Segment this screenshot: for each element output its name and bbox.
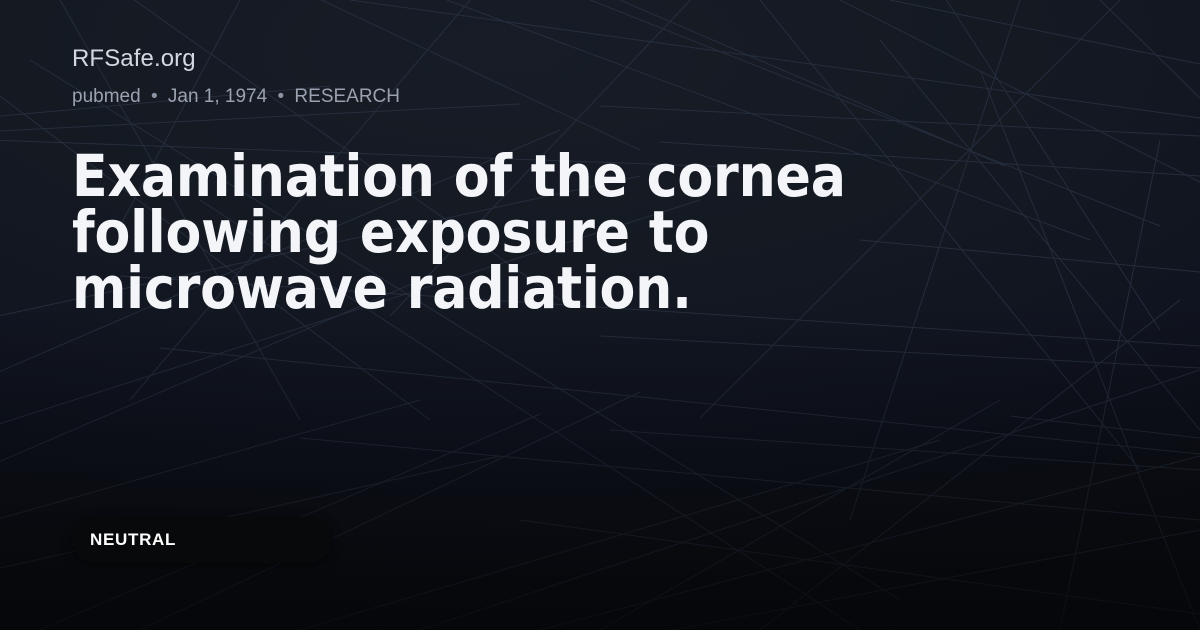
meta-category: RESEARCH xyxy=(294,86,400,107)
title-line-2: following exposure to xyxy=(72,204,1012,260)
article-title: Examination of the cornea following expo… xyxy=(72,148,1012,316)
card-content: RFSafe.org pubmed • Jan 1, 1974 • RESEAR… xyxy=(0,0,1200,630)
meta-source: pubmed xyxy=(72,86,141,107)
meta-date: Jan 1, 1974 xyxy=(168,86,267,107)
title-line-1: Examination of the cornea xyxy=(72,148,1012,204)
meta-separator-2: • xyxy=(272,86,289,107)
meta-separator-1: • xyxy=(146,86,163,107)
title-line-3: microwave radiation. xyxy=(72,260,1012,316)
social-share-card: RFSafe.org pubmed • Jan 1, 1974 • RESEAR… xyxy=(0,0,1200,630)
article-meta: pubmed • Jan 1, 1974 • RESEARCH xyxy=(72,84,400,109)
sentiment-badge-label: NEUTRAL xyxy=(90,530,176,550)
site-brand: RFSafe.org xyxy=(72,44,196,74)
sentiment-badge: NEUTRAL xyxy=(72,517,332,563)
